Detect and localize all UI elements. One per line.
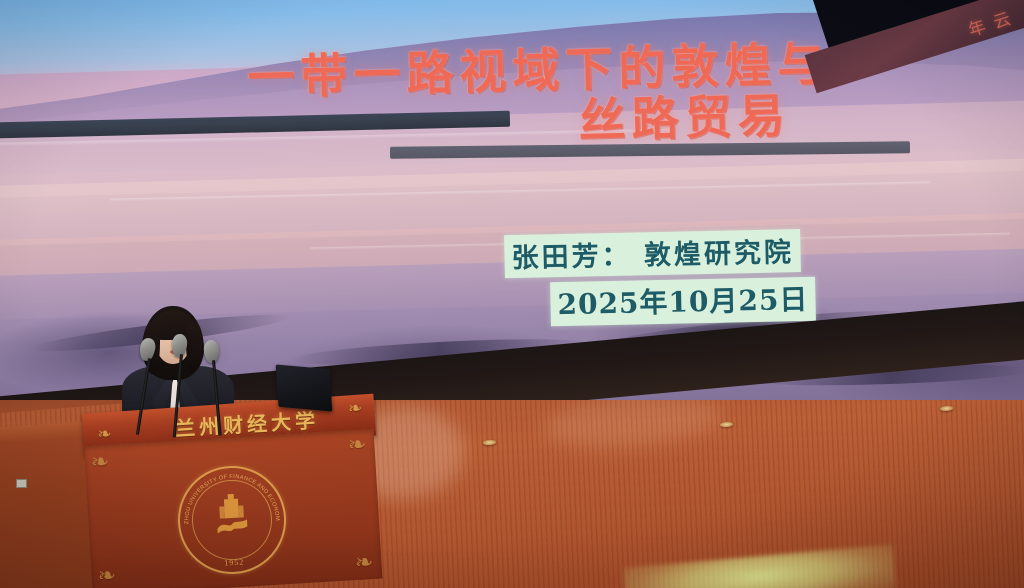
wall-light-reflection-3 bbox=[541, 400, 724, 454]
podium-corner-ornament-top-left: ❧ bbox=[90, 449, 110, 476]
podium-corner-ornament-top-right: ❧ bbox=[347, 431, 367, 458]
podium-ornament-left: ❧ bbox=[97, 424, 113, 445]
podium-ornament-right: ❧ bbox=[347, 398, 363, 419]
laptop bbox=[277, 367, 331, 409]
side-table-latch-left bbox=[16, 479, 27, 488]
emblem-tower-mark bbox=[214, 493, 250, 535]
podium-corner-ornament-bottom-left: ❧ bbox=[97, 562, 117, 588]
lecture-hall-photo: 一带一路视域下的敦煌与 丝路贸易 张田芳： 敦煌研究院 2025年10月25日 … bbox=[0, 0, 1024, 588]
podium: ❧ ❧ 兰州财经大学 ❧ ❧ ❧ ❧ LANZHOU UNIVERSITY OF… bbox=[82, 404, 374, 588]
podium-corner-ornament-bottom-right: ❧ bbox=[354, 549, 374, 576]
laptop-screen bbox=[276, 364, 333, 411]
university-emblem: LANZHOU UNIVERSITY OF FINANCE AND ECONOM… bbox=[175, 463, 289, 577]
